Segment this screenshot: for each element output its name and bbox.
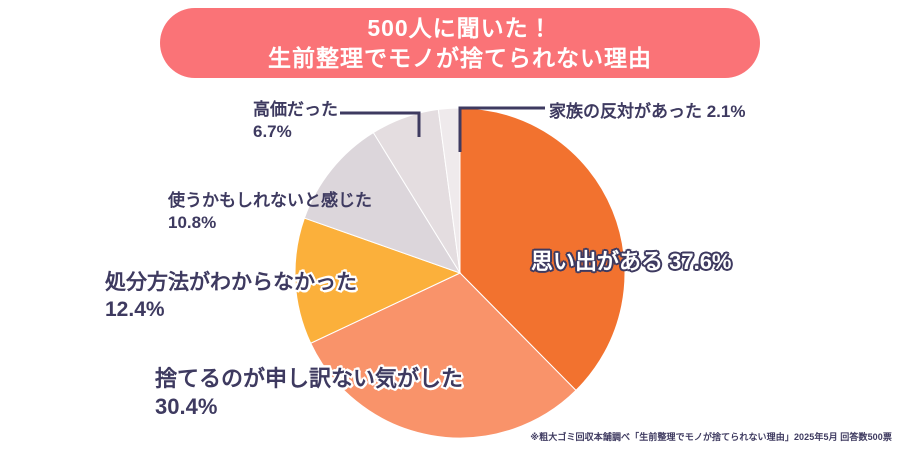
pie-slice [438, 108, 460, 273]
slice-label-suteru: 捨てるのが申し訳ない気がした 30.4% [155, 365, 463, 421]
slice-label-kouka-name: 高価だった [253, 100, 338, 119]
slice-label-tsukau-name: 使うかもしれないと感じた [168, 191, 372, 210]
leader-line-kazoku [460, 108, 545, 152]
slice-label-shobun-pct: 12.4% [105, 297, 357, 324]
leader-line-kouka [340, 113, 419, 137]
source-footnote: ※粗大ゴミ回収本舗調べ「生前整理でモノが捨てられない理由」2025年5月 回答数… [530, 430, 892, 443]
slice-label-kazoku-text: 家族の反対があった 2.1% [549, 102, 745, 121]
pie-slice [373, 109, 460, 273]
leader-lines [340, 108, 545, 152]
slice-label-omoide: 思い出がある 37.6% [531, 248, 732, 276]
slice-label-kouka: 高価だった 6.7% [253, 99, 338, 143]
slice-label-shobun: 処分方法がわからなかった 12.4% [105, 270, 357, 324]
slice-label-kazoku: 家族の反対があった 2.1% [549, 101, 745, 123]
banner-line-1: 500人に聞いた！ [367, 13, 552, 43]
title-banner: 500人に聞いた！ 生前整理でモノが捨てられない理由 [160, 8, 760, 78]
slice-label-kouka-pct: 6.7% [253, 121, 338, 143]
slice-label-tsukau-pct: 10.8% [168, 212, 372, 234]
slice-label-omoide-text: 思い出がある 37.6% [531, 249, 732, 274]
slice-label-suteru-name: 捨てるのが申し訳ない気がした [155, 366, 463, 391]
slice-label-tsukau: 使うかもしれないと感じた 10.8% [168, 190, 372, 234]
banner-line-2: 生前整理でモノが捨てられない理由 [268, 43, 652, 73]
slice-label-suteru-pct: 30.4% [155, 393, 463, 421]
slice-label-shobun-name: 処分方法がわからなかった [105, 271, 357, 294]
infographic-root: 500人に聞いた！ 生前整理でモノが捨てられない理由 家族の反対があった 2.1… [0, 0, 900, 450]
